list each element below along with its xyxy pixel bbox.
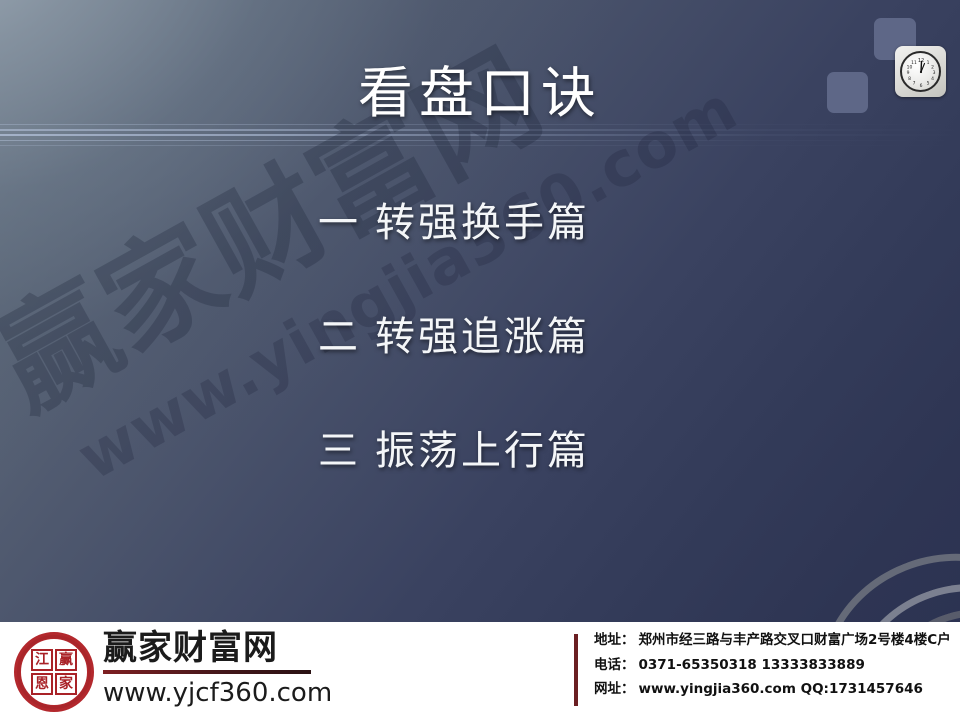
brand-website[interactable]: www.yjcf360.com — [103, 678, 323, 708]
outline-item-1: 一转强换手篇 — [318, 202, 878, 244]
outline-list: 一转强换手篇 二转强追涨篇 三振荡上行篇 — [318, 202, 878, 472]
outline-item-2: 二转强追涨篇 — [318, 316, 878, 358]
divider-line — [0, 145, 960, 146]
brand-block: 赢家财富网 www.yjcf360.com — [103, 630, 323, 708]
contact-block: 地址：郑州市经三路与丰产路交叉口财富广场2号楼4楼C户 电话：0371-6535… — [594, 634, 951, 708]
brand-seal-logo: 江 赢 恩 家 — [12, 630, 96, 714]
divider-line — [0, 129, 960, 131]
outline-item-number: 三 — [318, 428, 361, 474]
slide-canvas: 12 1 2 3 4 5 6 7 8 9 10 11 — [0, 0, 960, 720]
outline-item-label: 转强追涨篇 — [375, 314, 590, 360]
page-title: 看盘口诀 — [0, 48, 960, 128]
contact-value-phone: 0371-65350318 13333833889 — [639, 657, 865, 673]
contact-row-phone: 电话：0371-65350318 13333833889 — [594, 659, 951, 673]
seal-char-bottom-right: 家 — [55, 673, 77, 695]
contact-separator — [574, 634, 578, 706]
seal-char-top-right: 赢 — [55, 649, 77, 671]
seal-char-bottom-left: 恩 — [31, 673, 53, 695]
contact-value-address: 郑州市经三路与丰产路交叉口财富广场2号楼4楼C户 — [639, 632, 951, 648]
contact-label-phone: 电话： — [594, 657, 635, 673]
outline-item-label: 振荡上行篇 — [375, 428, 590, 474]
footer-bar: 江 赢 恩 家 赢家财富网 www.yjcf360.com 地址：郑州市经三路与… — [0, 622, 960, 720]
seal-char-top-left: 江 — [31, 649, 53, 671]
outline-item-number: 一 — [318, 200, 361, 246]
outline-item-3: 三振荡上行篇 — [318, 430, 878, 472]
contact-row-address: 地址：郑州市经三路与丰产路交叉口财富广场2号楼4楼C户 — [594, 634, 951, 648]
contact-label-address: 地址： — [594, 632, 635, 648]
contact-value-website[interactable]: www.yingjia360.com QQ:1731457646 — [639, 681, 923, 697]
seal-character-grid: 江 赢 恩 家 — [31, 649, 77, 695]
brand-name: 赢家财富网 — [103, 630, 323, 667]
divider-line — [0, 134, 960, 136]
outline-item-number: 二 — [318, 314, 361, 360]
contact-row-website: 网址：www.yingjia360.com QQ:1731457646 — [594, 683, 951, 697]
outline-item-label: 转强换手篇 — [375, 200, 590, 246]
divider-line — [0, 140, 960, 141]
brand-underline — [103, 670, 311, 674]
contact-label-website: 网址： — [594, 681, 635, 697]
